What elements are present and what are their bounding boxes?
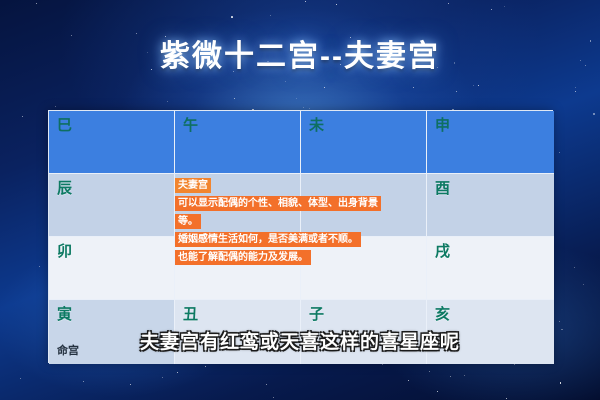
- title-bar: 紫微十二宫--夫妻宫: [0, 38, 600, 76]
- branch-label: 亥: [435, 306, 450, 324]
- branch-label: 丑: [183, 306, 198, 324]
- branch-label: 卯: [57, 243, 72, 261]
- chart-cell-酉: 酉: [427, 174, 554, 237]
- annotation-line: 也能了解配偶的能力及发展。: [175, 250, 311, 265]
- chart-cell-辰: 辰: [49, 174, 175, 237]
- caption-text: 夫妻宫有红鸾或天喜这样的喜星座呢: [140, 330, 460, 356]
- chart-cell-午: 午: [175, 111, 301, 174]
- annotation-line: 婚姻感情生活如何，是否美满或者不顺。: [175, 232, 361, 247]
- branch-label: 戌: [435, 243, 450, 261]
- chart-cell-申: 申: [427, 111, 554, 174]
- chart-cell-戌: 戌: [427, 237, 554, 300]
- branch-label: 申: [435, 117, 450, 135]
- branch-label: 巳: [57, 117, 72, 135]
- annotation-line: 可以显示配偶的个性、相貌、体型、出身背景: [175, 196, 381, 211]
- branch-label: 酉: [435, 180, 450, 198]
- chart-cell-未: 未: [301, 111, 427, 174]
- page-title: 紫微十二宫--夫妻宫: [160, 38, 440, 76]
- branch-label: 未: [309, 117, 324, 135]
- branch-label: 午: [183, 117, 198, 135]
- chart-cell-巳: 巳: [49, 111, 175, 174]
- caption-overlay: 夫妻宫有红鸾或天喜这样的喜星座呢: [0, 330, 600, 356]
- chart-cell-卯: 卯: [49, 237, 175, 300]
- branch-label: 寅: [57, 306, 72, 324]
- annotation-heading: 夫妻宫: [175, 178, 211, 193]
- branch-label: 辰: [57, 180, 72, 198]
- annotation-line: 等。: [175, 214, 201, 229]
- video-frame: 紫微十二宫--夫妻宫 巳午未申辰酉卯戌寅命宫丑子亥 夫妻宫可以显示配偶的个性、相…: [0, 0, 600, 400]
- branch-label: 子: [309, 306, 324, 324]
- annotation-callout: 夫妻宫可以显示配偶的个性、相貌、体型、出身背景等。婚姻感情生活如何，是否美满或者…: [175, 178, 435, 265]
